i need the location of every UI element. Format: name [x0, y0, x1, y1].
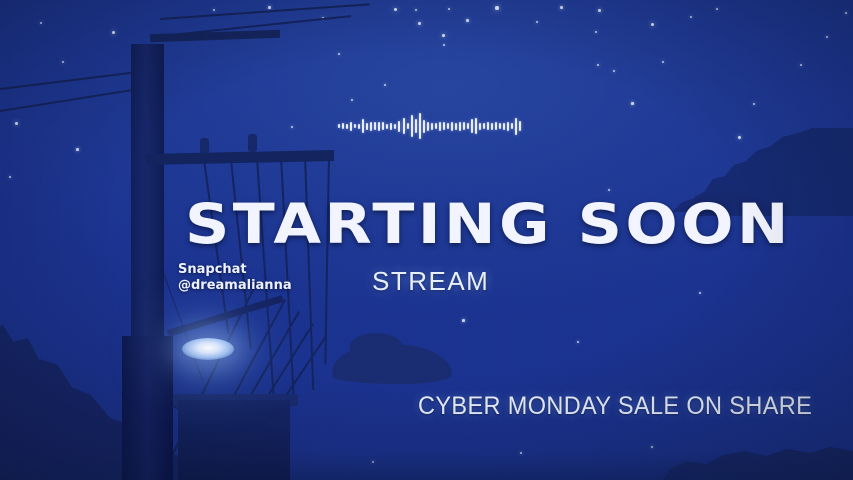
star: [76, 148, 79, 151]
waveform-bar: [358, 124, 360, 129]
star: [651, 446, 653, 448]
page-title: STARTING SOON: [185, 192, 792, 256]
waveform-bar: [463, 122, 465, 130]
waveform-bar: [403, 118, 405, 134]
waveform-bar: [431, 123, 433, 130]
waveform-bar: [443, 122, 445, 130]
star: [462, 319, 465, 322]
waveform-bar: [467, 123, 469, 129]
star: [495, 6, 499, 10]
star: [384, 84, 386, 86]
waveform-bar: [495, 122, 497, 130]
waveform-bar: [479, 123, 481, 130]
waveform-bar: [415, 119, 417, 133]
waveform-bar: [435, 123, 437, 129]
waveform-bar: [342, 123, 344, 129]
waveform-bar: [366, 123, 368, 130]
star: [738, 136, 741, 139]
waveform-bar: [407, 123, 409, 129]
waveform-bar: [519, 121, 521, 131]
waveform-bar: [378, 122, 380, 131]
waveform-bar: [419, 113, 421, 139]
waveform-bar: [515, 118, 517, 135]
waveform-bar: [459, 122, 461, 131]
waveform-bar: [483, 123, 485, 129]
star: [268, 6, 271, 9]
waveform-bar: [394, 124, 396, 129]
stream-overlay-canvas: STARTING SOON Snapchat @dreamalianna STR…: [0, 0, 853, 480]
waveform-bar: [423, 120, 425, 133]
star: [560, 6, 563, 9]
waveform-bar: [511, 123, 513, 129]
waveform-bar: [390, 123, 392, 130]
promo-banner-text: CYBER MONDAY SALE ON SHARE: [418, 392, 812, 421]
waveform-bar: [354, 124, 356, 128]
waveform-bar: [386, 124, 388, 129]
waveform-bar: [507, 122, 509, 131]
waveform-bar: [338, 124, 340, 128]
social-platform-label: Snapchat: [178, 262, 292, 278]
audio-waveform-visualizer: [338, 112, 522, 140]
waveform-bar: [499, 123, 501, 129]
street-lamp-glow: [182, 338, 234, 360]
waveform-bar: [475, 118, 477, 134]
subtitle-label: STREAM: [372, 266, 489, 297]
waveform-bar: [398, 121, 400, 132]
waveform-bar: [471, 119, 473, 133]
waveform-bar: [370, 122, 372, 131]
waveform-bar: [451, 122, 453, 131]
star: [598, 9, 601, 12]
waveform-bar: [411, 115, 413, 137]
utility-pole-base: [122, 336, 173, 480]
waveform-bar: [491, 123, 493, 130]
waveform-bar: [439, 122, 441, 131]
insulator-right: [248, 134, 257, 152]
waveform-bar: [487, 122, 489, 130]
waveform-bar: [427, 122, 429, 131]
waveform-bar: [346, 124, 348, 129]
insulator-left: [200, 138, 209, 154]
waveform-bar: [374, 122, 376, 130]
star: [418, 22, 421, 25]
star: [608, 189, 610, 191]
star: [466, 19, 469, 22]
waveform-bar: [350, 122, 352, 131]
social-handle-label: @dreamalianna: [178, 278, 292, 294]
waveform-bar: [455, 123, 457, 130]
waveform-bar: [382, 122, 384, 130]
waveform-bar: [362, 119, 364, 133]
social-handle-block: Snapchat @dreamalianna: [178, 262, 292, 294]
waveform-bar: [447, 123, 449, 129]
building-silhouette: [178, 400, 290, 480]
star: [631, 102, 634, 105]
waveform-bar: [503, 123, 505, 130]
